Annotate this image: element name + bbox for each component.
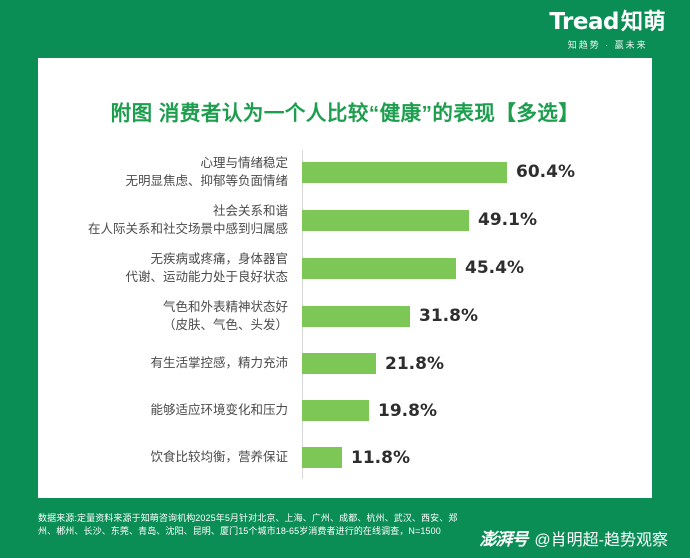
bar-0 xyxy=(302,162,507,183)
bar-value-label: 19.8% xyxy=(378,401,437,421)
bar-3 xyxy=(302,306,410,327)
chart-row: 气色和外表精神状态好 （皮肤、气色、头发） 31.8% xyxy=(52,292,652,340)
chart-row: 有生活掌控感，精力充沛 21.8% xyxy=(52,340,652,387)
chart-card: 附图 消费者认为一个人比较“健康”的表现【多选】 心理与情绪稳定 无明显焦虑、抑… xyxy=(38,58,652,498)
bar-chart-plot: 心理与情绪稳定 无明显焦虑、抑郁等负面情绪 60.4% 社会关系和谐 在人际关系… xyxy=(38,148,652,481)
watermark-account: @肖明超-趋势观察 xyxy=(534,526,668,550)
bar-4 xyxy=(302,353,376,374)
chart-title: 附图 消费者认为一个人比较“健康”的表现【多选】 xyxy=(38,58,652,126)
bar-value-label: 21.8% xyxy=(385,354,444,374)
bar-category-label: 饮食比较均衡，营养保证 xyxy=(52,448,302,466)
bar-value-label: 60.4% xyxy=(516,162,575,182)
bar-category-label: 心理与情绪稳定 无明显焦虑、抑郁等负面情绪 xyxy=(52,154,302,190)
chart-row: 饮食比较均衡，营养保证 11.8% xyxy=(52,434,652,481)
bar-value-label: 49.1% xyxy=(478,210,537,230)
bar-category-label: 无疾病或疼痛，身体器官 代谢、运动能力处于良好状态 xyxy=(52,250,302,286)
brand-tagline: 知趋势 · 赢未来 xyxy=(549,41,666,50)
bar-track: 60.4% xyxy=(302,148,652,196)
chart-row: 无疾病或疼痛，身体器官 代谢、运动能力处于良好状态 45.4% xyxy=(52,244,652,292)
brand-logo: Tread知萌 知趋势 · 赢未来 xyxy=(549,10,666,50)
paper-logo-icon: 澎湃号 xyxy=(479,525,527,550)
brand-latin-text: Tread xyxy=(549,9,619,35)
chart-row: 能够适应环境变化和压力 19.8% xyxy=(52,387,652,434)
bar-6 xyxy=(302,447,342,468)
watermark: 澎湃号 @肖明超-趋势观察 xyxy=(479,525,668,550)
source-note: 数据来源:定量资料来源于知萌咨询机构2025年5月针对北京、上海、广州、成都、杭… xyxy=(38,512,468,538)
bar-1 xyxy=(302,210,469,231)
bar-value-label: 45.4% xyxy=(465,258,524,278)
bar-category-label: 社会关系和谐 在人际关系和社交场景中感到归属感 xyxy=(52,202,302,238)
bar-value-label: 11.8% xyxy=(351,448,410,468)
brand-cjk-text: 知萌 xyxy=(621,9,666,34)
bar-track: 31.8% xyxy=(302,292,652,340)
bar-track: 45.4% xyxy=(302,244,652,292)
bar-track: 19.8% xyxy=(302,387,652,434)
chart-row: 社会关系和谐 在人际关系和社交场景中感到归属感 49.1% xyxy=(52,196,652,244)
bar-category-label: 有生活掌控感，精力充沛 xyxy=(52,354,302,372)
bar-category-label: 气色和外表精神状态好 （皮肤、气色、头发） xyxy=(52,298,302,334)
bar-category-label: 能够适应环境变化和压力 xyxy=(52,401,302,419)
brand-wordmark: Tread知萌 xyxy=(549,10,666,34)
bar-2 xyxy=(302,258,456,279)
chart-row: 心理与情绪稳定 无明显焦虑、抑郁等负面情绪 60.4% xyxy=(52,148,652,196)
bar-track: 11.8% xyxy=(302,434,652,481)
bar-track: 49.1% xyxy=(302,196,652,244)
bar-5 xyxy=(302,400,369,421)
bar-track: 21.8% xyxy=(302,340,652,387)
bar-value-label: 31.8% xyxy=(419,306,478,326)
